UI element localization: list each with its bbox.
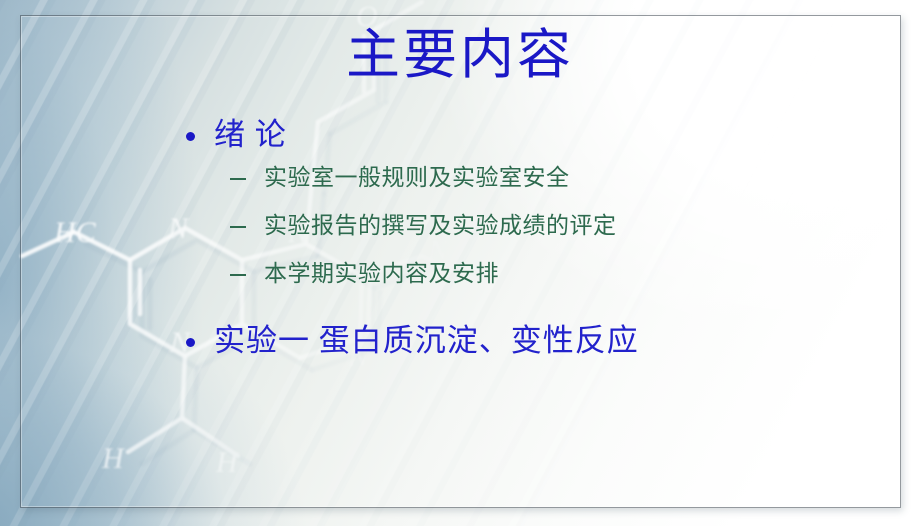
bullet-dash-icon [230,213,264,228]
slide-title: 主要内容 [0,24,920,86]
presentation-slide: N N N N HC N O H H O CH 主要内容 绪 论 [0,0,920,526]
outline-item-level1-label: 实验一 蛋白质沉淀、变性反应 [214,324,639,359]
outline-item-level1[interactable]: 实验一 蛋白质沉淀、变性反应 [186,324,880,359]
outline-item-level1-label: 绪 论 [214,118,287,153]
outline-item-level2-label: 实验报告的撰写及实验成绩的评定 [264,213,617,238]
bullet-dash-icon [230,165,264,180]
outline-item-level1[interactable]: 绪 论 [186,118,880,153]
outline-item-level2[interactable]: 本学期实验内容及安排 [230,261,880,286]
outline-item-level2-label: 本学期实验内容及安排 [264,261,499,286]
outline-item-level2[interactable]: 实验报告的撰写及实验成绩的评定 [230,213,880,238]
bullet-dot-icon [186,118,214,141]
outline-item-level2[interactable]: 实验室一般规则及实验室安全 [230,165,880,190]
content-outline-list: 绪 论 实验室一般规则及实验室安全 实验报告的撰写及实验成绩的评定 [186,118,880,358]
outline-item-level2-label: 实验室一般规则及实验室安全 [264,165,570,190]
outline-spacer [186,310,880,324]
outline-sublist: 实验室一般规则及实验室安全 实验报告的撰写及实验成绩的评定 本学期实验内容及安排 [230,165,880,287]
bullet-dash-icon [230,261,264,276]
slide-content: 主要内容 绪 论 实验室一般规则及实验室安全 [0,0,920,526]
bullet-dot-icon [186,324,214,347]
